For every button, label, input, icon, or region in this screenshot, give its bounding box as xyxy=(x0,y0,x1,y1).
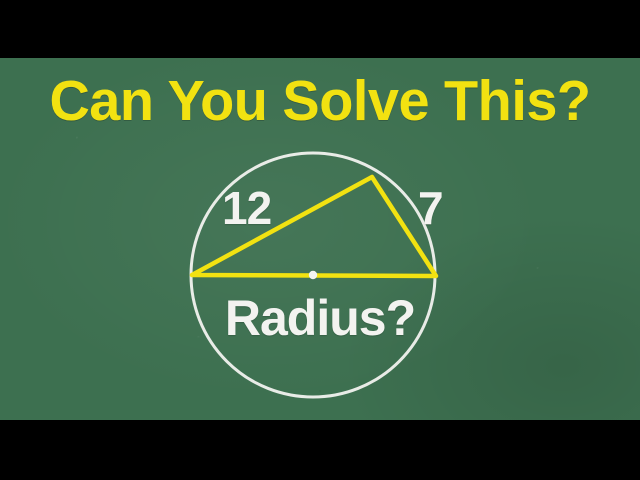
letterbox-bar-bottom xyxy=(0,420,640,480)
chord-length-label-12: 12 xyxy=(222,182,271,234)
radius-question-label: Radius? xyxy=(0,290,640,346)
chord-length-label-7: 7 xyxy=(418,182,443,234)
video-frame: Can You Solve This? 12 7 Radius? xyxy=(0,0,640,480)
letterbox-bar-top xyxy=(0,0,640,58)
center-point-dot xyxy=(309,271,317,279)
geometry-diagram xyxy=(0,0,640,480)
